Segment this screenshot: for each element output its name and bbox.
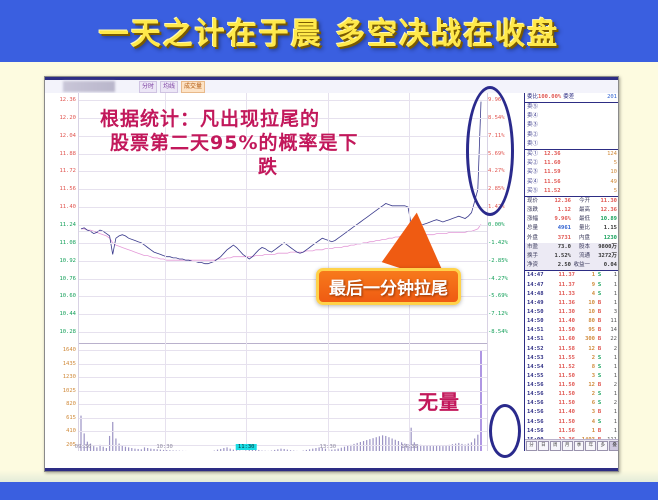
volume-bar <box>144 447 145 451</box>
volume-bar <box>128 447 129 451</box>
volume-bar <box>430 446 431 451</box>
trade-time: 14:48 <box>527 290 549 299</box>
trade-price: 11.56 <box>549 427 575 436</box>
trade-tape-row[interactable]: 14:4711.379S1 <box>525 281 619 290</box>
percent-tick-right: -4.27% <box>488 276 508 282</box>
buy-order-row[interactable]: 买①12.36124 <box>525 150 619 159</box>
volume-bar <box>306 450 307 451</box>
trade-side: B <box>595 299 604 308</box>
volume-tick: 1025 <box>63 388 76 394</box>
trade-time: 14:56 <box>527 418 549 427</box>
order-ratio-header: 委比 100.00% 委差 201 <box>525 93 619 103</box>
trade-tape-row[interactable]: 14:5511.503S1 <box>525 372 619 381</box>
trade-count: 11 <box>604 317 617 326</box>
order-level-label: 买④ <box>527 178 544 187</box>
highlight-ellipse-volume <box>489 404 521 458</box>
order-price: 11.56 <box>544 178 578 187</box>
stat-value-2: 1.15 <box>591 224 617 233</box>
trade-side: B <box>595 345 604 354</box>
trade-time: 14:54 <box>527 363 549 372</box>
stat-value-2: 0.04 <box>591 261 617 270</box>
stat-key: 现价 <box>527 197 545 206</box>
order-price: 11.59 <box>544 168 578 177</box>
trade-volume: 300 <box>575 335 595 344</box>
percent-tick-right: -2.85% <box>488 258 508 264</box>
trade-count: 1 <box>604 372 617 381</box>
volume-bar <box>341 448 342 451</box>
trade-side: B <box>595 408 604 417</box>
trade-volume: 95 <box>575 326 595 335</box>
volume-bar <box>233 450 234 451</box>
time-tick: 13:30 <box>320 444 337 450</box>
percent-tick-right: -7.12% <box>488 311 508 317</box>
trade-count: 1 <box>604 290 617 299</box>
order-price: 11.52 <box>544 187 578 196</box>
trade-count: 2 <box>604 345 617 354</box>
volume-bar <box>223 448 224 451</box>
time-tick: 09:30 <box>75 444 92 450</box>
trade-side: S <box>595 271 604 280</box>
volume-bar <box>338 449 339 451</box>
trade-count: 1 <box>604 418 617 427</box>
trade-tape-row[interactable]: 14:5611.5012B2 <box>525 381 619 390</box>
stat-key: 涨幅 <box>527 215 545 224</box>
volume-bar <box>436 445 437 451</box>
order-level-label: 卖① <box>527 140 544 149</box>
trade-side: B <box>595 335 604 344</box>
trade-price: 11.50 <box>549 418 575 427</box>
volume-tick: 1435 <box>63 361 76 367</box>
trade-time: 14:47 <box>527 281 549 290</box>
volume-bar <box>106 448 107 451</box>
stat-value-2: 10.89 <box>591 215 617 224</box>
stat-key-2: 股本 <box>572 243 590 252</box>
gridline-h <box>79 377 487 378</box>
price-tick-left: 11.72 <box>59 168 76 174</box>
stat-value: 9.96% <box>546 215 571 224</box>
volume-bar <box>109 436 110 451</box>
trade-price: 11.50 <box>549 372 575 381</box>
order-qty: 5 <box>614 159 617 168</box>
trade-tape-row[interactable]: 14:5011.4080B11 <box>525 317 619 326</box>
price-tick-left: 12.36 <box>59 97 76 103</box>
trade-volume: 2 <box>575 390 595 399</box>
volume-bar <box>220 449 221 451</box>
volume-bar <box>138 449 139 451</box>
order-level-label: 买⑤ <box>527 187 544 196</box>
volume-tick: 820 <box>66 401 76 407</box>
volume-bar <box>344 447 345 451</box>
volume-bar <box>385 436 386 451</box>
annotation-line-1: 根据统计：凡出现拉尾的 <box>100 108 320 130</box>
volume-bar <box>287 450 288 451</box>
volume-bar <box>423 445 424 451</box>
period-button[interactable]: 年 <box>585 441 596 451</box>
period-button[interactable]: 叠 <box>609 441 619 451</box>
trade-count: 1 <box>604 281 617 290</box>
volume-bar <box>134 449 135 451</box>
panel-period-buttons[interactable]: 分日周月季年多叠 <box>525 439 619 451</box>
stat-row: 外盘3731内盘1230 <box>525 234 619 243</box>
volume-bar <box>172 450 173 451</box>
buy-order-row[interactable]: 买②11.605 <box>525 159 619 168</box>
period-button[interactable]: 季 <box>574 441 585 451</box>
volume-bar <box>480 351 481 451</box>
trade-price: 11.33 <box>549 290 575 299</box>
trade-tape-row[interactable]: 14:5611.504S1 <box>525 418 619 427</box>
bottom-blue-strip <box>0 482 658 500</box>
volume-bar <box>150 449 151 451</box>
trade-time: 14:51 <box>527 335 549 344</box>
volume-bar <box>363 441 364 451</box>
stat-key: 市盈 <box>527 243 545 252</box>
volume-bar <box>290 450 291 451</box>
trade-count: 1 <box>604 271 617 280</box>
trade-side: B <box>595 317 604 326</box>
trade-volume: 10 <box>575 308 595 317</box>
order-level-label: 卖③ <box>527 121 544 130</box>
trade-count: 1 <box>604 299 617 308</box>
sell-order-book[interactable]: 卖⑤卖④卖③卖②卖① <box>525 103 619 150</box>
trade-side: B <box>595 308 604 317</box>
trade-tape-row[interactable]: 14:5611.561B1 <box>525 427 619 436</box>
trade-tape-row[interactable]: 14:5211.5812B2 <box>525 345 619 354</box>
trade-tape-row[interactable]: 14:4711.371S1 <box>525 271 619 280</box>
volume-bar <box>280 449 281 451</box>
stat-key-2: 最低 <box>572 215 590 224</box>
trade-count: 2 <box>604 399 617 408</box>
trade-price: 11.50 <box>549 326 575 335</box>
tab-junxian[interactable]: 均线 <box>160 81 178 93</box>
trade-tape-row[interactable]: 14:5611.506S2 <box>525 399 619 408</box>
trade-count: 1 <box>604 354 617 363</box>
trade-volume: 3 <box>575 408 595 417</box>
trade-volume: 1 <box>575 427 595 436</box>
stat-value-2: 1230 <box>591 234 617 243</box>
gridline-h <box>79 100 487 101</box>
volume-bar <box>277 449 278 451</box>
order-level-label: 买② <box>527 159 544 168</box>
trade-volume: 4 <box>575 290 595 299</box>
volume-bar <box>439 446 440 451</box>
percent-tick-right: 0.00% <box>488 222 505 228</box>
subchart-separator <box>79 343 487 344</box>
stat-key: 净资 <box>527 261 545 270</box>
sell-order-row[interactable]: 卖⑤ <box>525 103 619 112</box>
stat-value-2: 9800万 <box>591 243 617 252</box>
price-tick-left: 10.92 <box>59 258 76 264</box>
volume-tick: 1640 <box>63 347 76 353</box>
trade-price: 11.36 <box>549 299 575 308</box>
weibi-label: 委比 <box>527 93 538 102</box>
weibi-value: 100.00% <box>538 93 561 102</box>
percent-tick-right: -8.54% <box>488 329 508 335</box>
trade-tape-row[interactable]: 14:5611.403B1 <box>525 408 619 417</box>
trade-time: 14:50 <box>527 308 549 317</box>
sell-order-row[interactable]: 卖② <box>525 131 619 140</box>
volume-bar <box>258 450 259 451</box>
stat-key-2: 最高 <box>572 206 590 215</box>
trade-tape-row[interactable]: 14:5411.528S1 <box>525 363 619 372</box>
price-tick-left: 11.08 <box>59 240 76 246</box>
stat-row: 现价12.36今开11.30 <box>525 197 619 206</box>
trade-price: 11.40 <box>549 408 575 417</box>
volume-bar <box>398 441 399 451</box>
stat-key-2: 量比 <box>572 224 590 233</box>
volume-bar <box>169 450 170 451</box>
trade-side: S <box>595 372 604 381</box>
buy-order-row[interactable]: 买④11.5649 <box>525 178 619 187</box>
trade-side: S <box>595 281 604 290</box>
gridline-h <box>79 364 487 365</box>
trade-time: 14:52 <box>527 345 549 354</box>
indicator-tabs[interactable]: 分时 均线 成交量 <box>139 81 205 93</box>
stat-value: 1.52% <box>546 252 571 261</box>
period-button[interactable]: 周 <box>550 441 561 451</box>
volume-bar <box>226 447 227 451</box>
stat-row: 市盈73.0股本9800万 <box>525 243 619 252</box>
trade-time: 14:50 <box>527 317 549 326</box>
trade-price: 11.55 <box>549 354 575 363</box>
volume-bar <box>477 435 478 451</box>
highlight-ellipse-tail <box>466 86 514 216</box>
volume-bar <box>166 450 167 451</box>
price-tick-left: 12.04 <box>59 133 76 139</box>
quote-data-panel[interactable]: 委比 100.00% 委差 201 卖⑤卖④卖③卖②卖① 买①12.36124买… <box>524 93 619 451</box>
stat-key-2: 内盘 <box>572 234 590 243</box>
order-qty: 10 <box>610 168 617 177</box>
trade-time: 14:49 <box>527 299 549 308</box>
trade-price: 11.50 <box>549 399 575 408</box>
order-qty: 49 <box>610 178 617 187</box>
trade-price: 11.58 <box>549 345 575 354</box>
stat-value: 2.50 <box>546 261 571 270</box>
order-level-label: 卖② <box>527 131 544 140</box>
volume-bar <box>112 422 113 451</box>
trade-time: 14:53 <box>527 354 549 363</box>
volume-bar <box>382 435 383 451</box>
trade-volume: 4 <box>575 418 595 427</box>
price-tick-left: 11.56 <box>59 186 76 192</box>
trade-price: 11.40 <box>549 317 575 326</box>
redacted-symbol-label <box>63 81 115 92</box>
volume-bar <box>433 446 434 451</box>
trade-volume: 3 <box>575 372 595 381</box>
volume-bar <box>125 447 126 451</box>
order-qty: 5 <box>614 187 617 196</box>
weicha-value: 201 <box>607 93 617 102</box>
trade-volume: 9 <box>575 281 595 290</box>
stat-value-2: 12.36 <box>591 206 617 215</box>
banner-title: 一天之计在于晨 多空决战在收盘 <box>99 9 559 53</box>
tab-volume[interactable]: 成交量 <box>181 81 205 93</box>
callout-last-minute-tail: 最后一分钟拉尾 <box>316 268 461 305</box>
order-level-label: 买③ <box>527 168 544 177</box>
stat-row: 总量4961量比1.15 <box>525 224 619 233</box>
stat-value-2: 11.30 <box>591 197 617 206</box>
volume-bar <box>312 449 313 451</box>
gridline-h <box>79 445 487 446</box>
gridline-h <box>79 431 487 432</box>
volume-bar <box>122 445 123 451</box>
stat-value: 73.0 <box>546 243 571 252</box>
price-tick-left: 11.24 <box>59 222 76 228</box>
trade-tape-row[interactable]: 14:5111.5095B14 <box>525 326 619 335</box>
quote-statistics: 现价12.36今开11.30涨跌1.12最高12.36涨幅9.96%最低10.8… <box>525 197 619 272</box>
stat-key-2: 收益一 <box>572 261 590 270</box>
volume-bar <box>366 440 367 451</box>
stat-key-2: 流通 <box>572 252 590 261</box>
gridline-h <box>79 207 487 208</box>
volume-bar <box>93 446 94 451</box>
trade-count: 14 <box>604 326 617 335</box>
stat-value-2: 3272万 <box>591 252 617 261</box>
trade-time: 14:55 <box>527 372 549 381</box>
trade-price: 11.52 <box>549 363 575 372</box>
stat-value: 1.12 <box>546 206 571 215</box>
price-axis-left: 12.3612.2012.0411.8811.7211.5611.4011.24… <box>45 93 78 451</box>
volume-bar <box>153 449 154 451</box>
time-tick: 14:30 <box>401 444 418 450</box>
trade-volume: 12 <box>575 345 595 354</box>
volume-bar <box>103 447 104 451</box>
trade-side: S <box>595 418 604 427</box>
price-tick-left: 10.76 <box>59 276 76 282</box>
gridline-h <box>79 332 487 333</box>
trade-side: S <box>595 290 604 299</box>
trade-price: 11.37 <box>549 281 575 290</box>
volume-bar <box>309 449 310 451</box>
trade-side: S <box>595 390 604 399</box>
trade-side: B <box>595 326 604 335</box>
stat-key: 换手 <box>527 252 545 261</box>
trade-side: B <box>595 427 604 436</box>
trade-volume: 1 <box>575 271 595 280</box>
period-button[interactable]: 月 <box>562 441 573 451</box>
trade-tape[interactable]: 14:4711.371S114:4711.379S114:4811.334S11… <box>525 271 619 445</box>
annotation-main-text: 根据统计：凡出现拉尾的 股票第二天95%的概率是下 跌 <box>100 108 470 179</box>
weicha-label: 委差 <box>563 93 574 102</box>
stat-key: 外盘 <box>527 234 545 243</box>
annotation-line-3: 跌 <box>258 156 470 180</box>
trade-count: 1 <box>604 363 617 372</box>
percent-tick-right: -5.69% <box>488 293 508 299</box>
trade-volume: 6 <box>575 399 595 408</box>
volume-bar <box>217 450 218 451</box>
stat-row: 换手1.52%流通3272万 <box>525 252 619 261</box>
price-tick-left: 11.88 <box>59 151 76 157</box>
stat-value: 4961 <box>546 224 571 233</box>
volume-bar <box>420 445 421 451</box>
trade-tape-row[interactable]: 14:4911.3610B1 <box>525 299 619 308</box>
stat-key: 总量 <box>527 224 545 233</box>
trade-time: 14:56 <box>527 408 549 417</box>
volume-bar <box>350 445 351 451</box>
trade-side: S <box>595 354 604 363</box>
stat-key-2: 今开 <box>572 197 590 206</box>
stat-value: 3731 <box>546 234 571 243</box>
gridline-h <box>79 314 487 315</box>
trade-count: 22 <box>604 335 617 344</box>
trade-time: 14:56 <box>527 399 549 408</box>
volume-tick: 1230 <box>63 374 76 380</box>
sell-order-row[interactable]: 卖④ <box>525 112 619 121</box>
stat-value: 12.36 <box>546 197 571 206</box>
sell-order-row[interactable]: 卖① <box>525 140 619 149</box>
volume-tick: 410 <box>66 428 76 434</box>
trade-count: 1 <box>604 427 617 436</box>
volume-bar <box>445 445 446 451</box>
stat-row: 净资2.50收益一0.04 <box>525 261 619 270</box>
trade-tape-row[interactable]: 14:5011.3010B3 <box>525 308 619 317</box>
trade-price: 11.60 <box>549 335 575 344</box>
buy-order-book[interactable]: 买①12.36124买②11.605买③11.5910买④11.5649买⑤11… <box>525 150 619 197</box>
tab-fenshi[interactable]: 分时 <box>139 81 157 93</box>
trade-time: 14:51 <box>527 326 549 335</box>
buy-order-row[interactable]: 买⑤11.525 <box>525 187 619 196</box>
trade-time: 14:56 <box>527 427 549 436</box>
gridline-h <box>79 418 487 419</box>
volume-bar <box>315 448 316 451</box>
volume-bar <box>236 450 237 451</box>
order-level-label: 卖⑤ <box>527 103 544 112</box>
period-button[interactable]: 多 <box>597 441 608 451</box>
trade-volume: 2 <box>575 354 595 363</box>
volume-bar <box>141 449 142 451</box>
volume-bar <box>426 445 427 451</box>
trade-side: B <box>595 381 604 390</box>
volume-bar <box>449 445 450 451</box>
volume-tick: 615 <box>66 415 76 421</box>
volume-bar <box>96 447 97 451</box>
trade-volume: 8 <box>575 363 595 372</box>
period-button[interactable]: 分 <box>526 441 537 451</box>
percent-tick-right: -1.42% <box>488 240 508 246</box>
trade-price: 11.50 <box>549 381 575 390</box>
order-qty: 124 <box>607 150 617 159</box>
stat-row: 涨幅9.96%最低10.89 <box>525 215 619 224</box>
price-tick-left: 10.60 <box>59 293 76 299</box>
chart-toolbar: 分时 均线 成交量 <box>45 80 618 94</box>
trade-volume: 80 <box>575 317 595 326</box>
volume-bar <box>347 446 348 451</box>
trade-count: 1 <box>604 408 617 417</box>
trade-tape-row[interactable]: 14:4811.334S1 <box>525 290 619 299</box>
trade-count: 3 <box>604 308 617 317</box>
trade-count: 2 <box>604 381 617 390</box>
buy-order-row[interactable]: 买③11.5910 <box>525 168 619 177</box>
volume-bar <box>230 449 231 451</box>
trade-tape-row[interactable]: 14:5311.552S1 <box>525 354 619 363</box>
trade-side: S <box>595 399 604 408</box>
trade-time: 14:56 <box>527 390 549 399</box>
stat-key: 涨跌 <box>527 206 545 215</box>
price-tick-left: 12.20 <box>59 115 76 121</box>
trade-time: 14:56 <box>527 381 549 390</box>
order-price: 12.36 <box>544 150 578 159</box>
screenshot-root: 一天之计在于晨 多空决战在收盘 分时 均线 成交量 12.3612.2012.0… <box>0 0 658 500</box>
annotation-no-volume: 无量 <box>418 390 460 415</box>
trade-tape-row[interactable]: 14:5111.60300B22 <box>525 335 619 344</box>
trade-tape-row[interactable]: 14:5611.502S1 <box>525 390 619 399</box>
price-tick-left: 11.40 <box>59 204 76 210</box>
title-banner: 一天之计在于晨 多空决战在收盘 <box>0 0 658 62</box>
volume-bar <box>274 450 275 451</box>
trade-price: 11.37 <box>549 271 575 280</box>
period-button[interactable]: 日 <box>538 441 549 451</box>
annotation-line-2: 股票第二天95%的概率是下 <box>110 132 470 156</box>
sell-order-row[interactable]: 卖③ <box>525 121 619 130</box>
